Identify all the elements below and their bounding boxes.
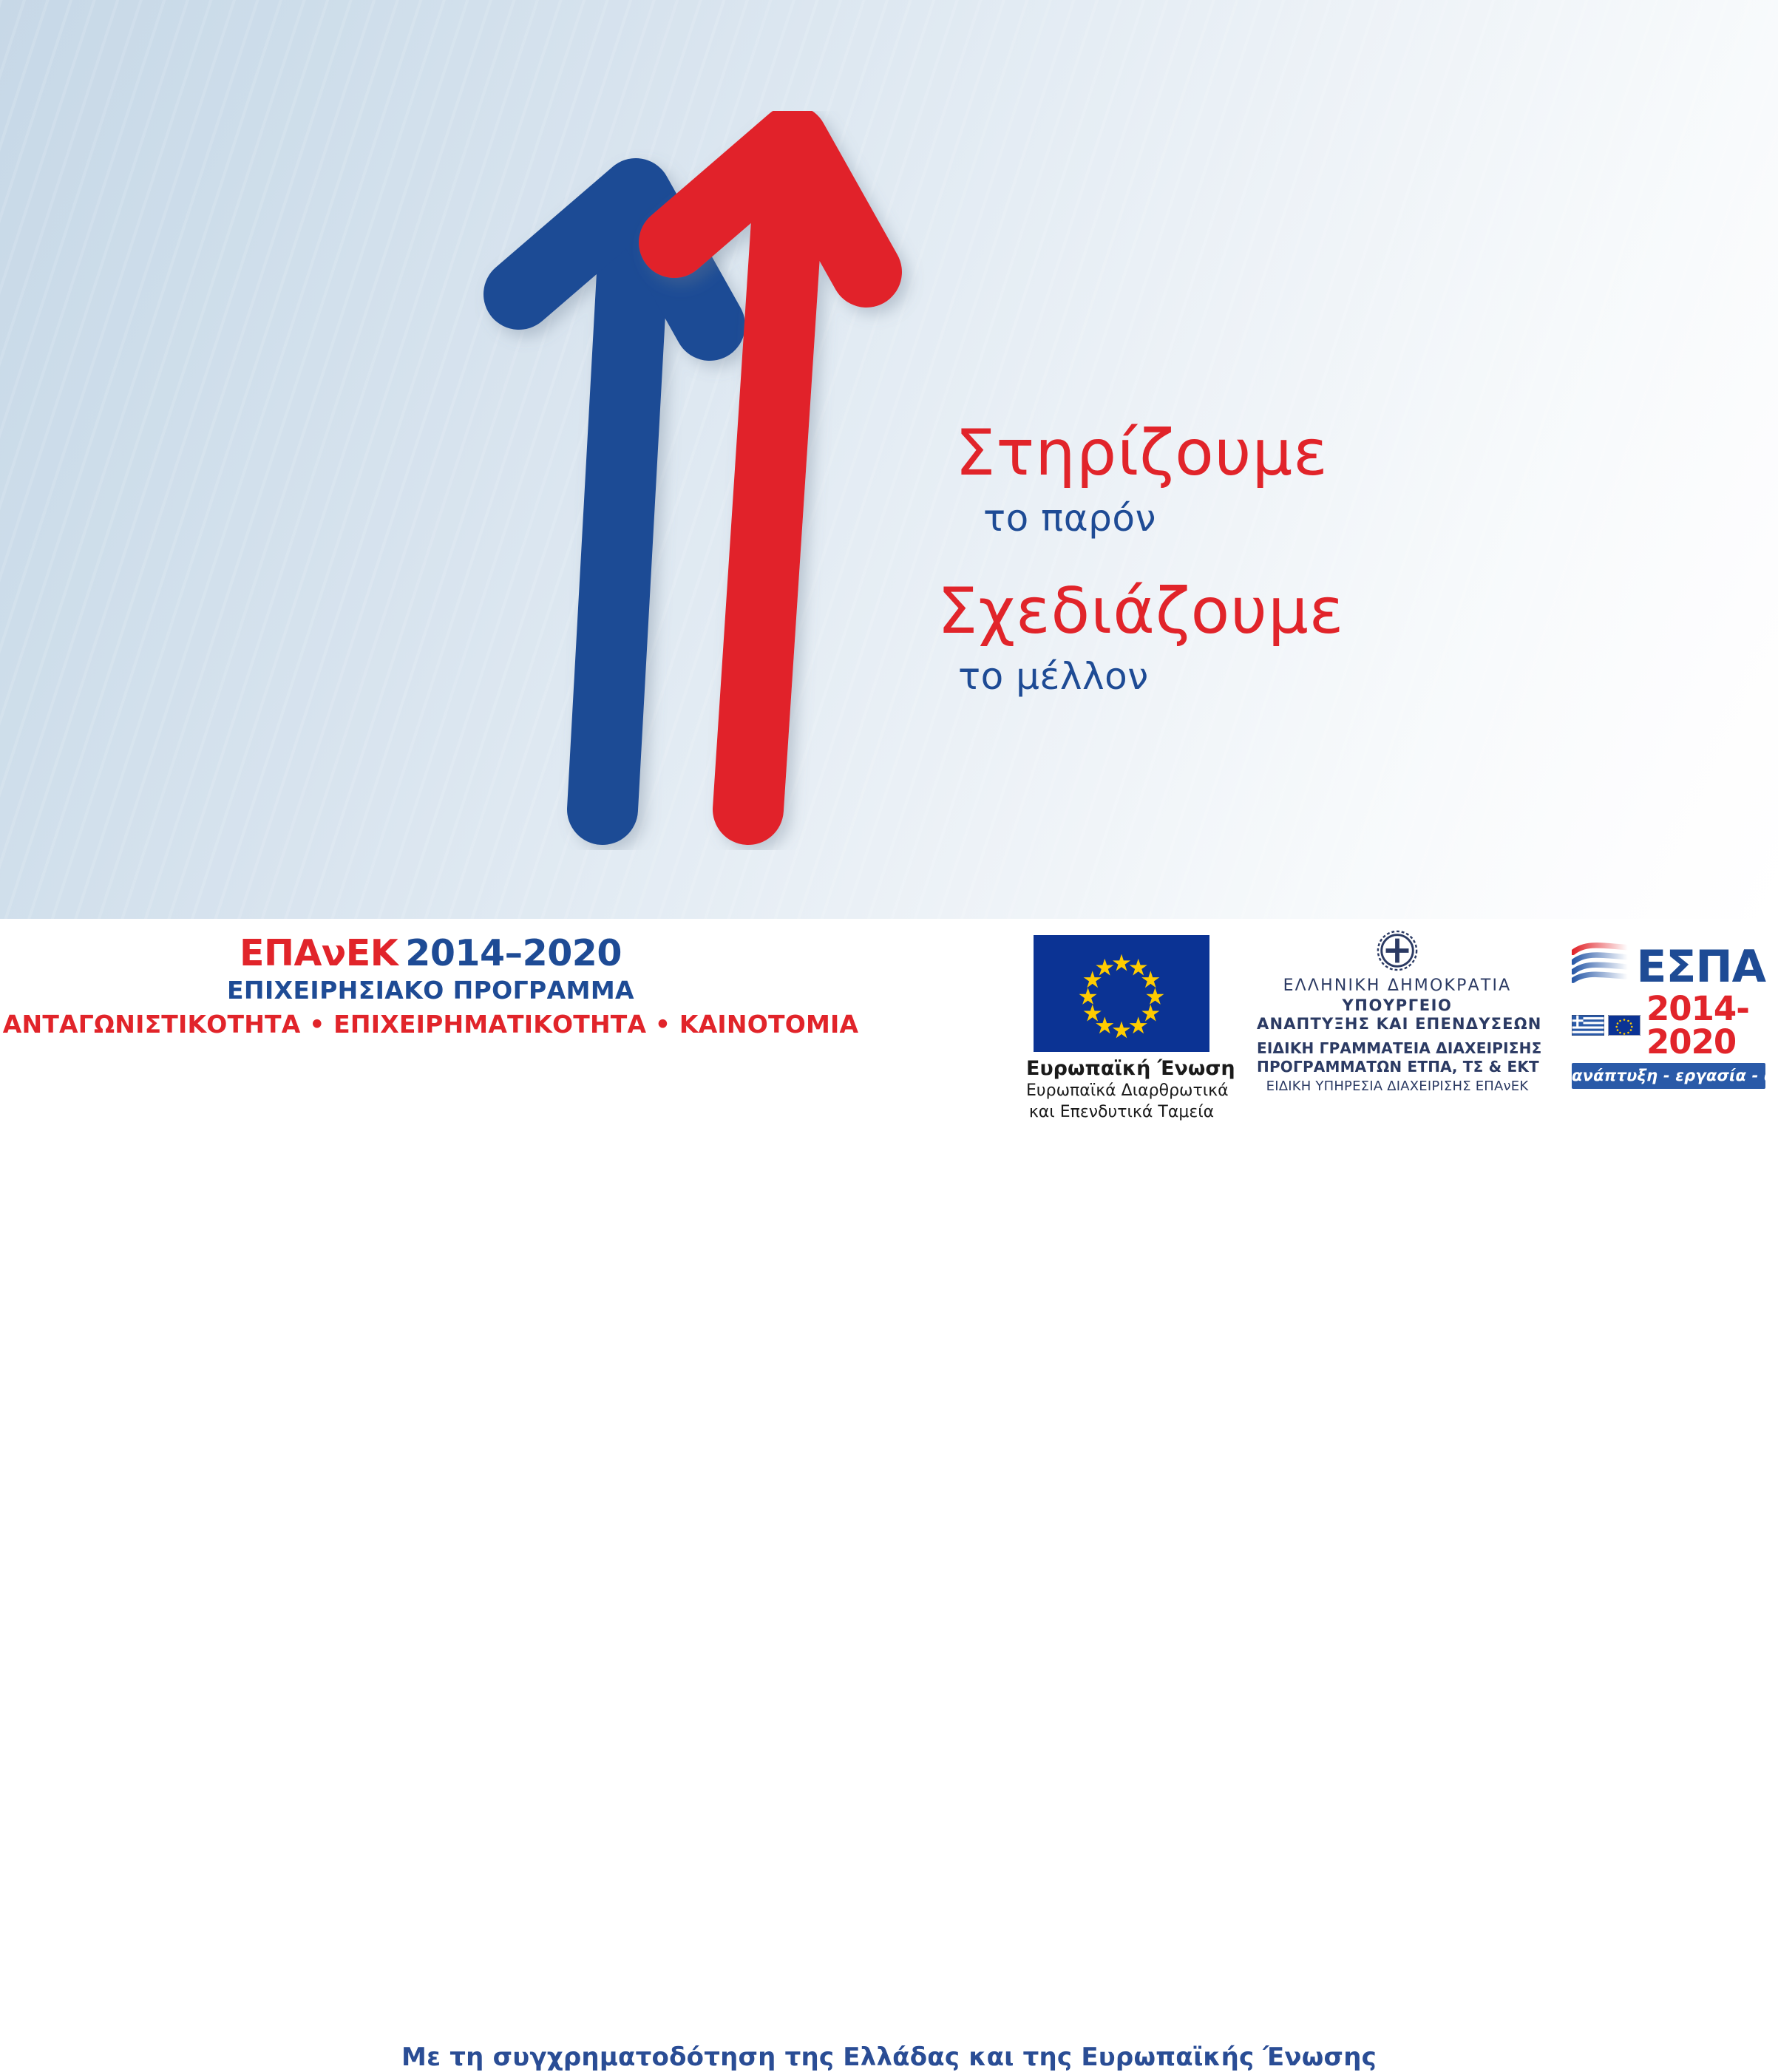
cofinancing-tagline: Με τη συγχρηματοδότηση της Ελλάδας και τ…	[0, 2042, 1778, 2072]
eu-subtitle-line1: Ευρωπαϊκά Διαρθρωτικά	[1026, 1081, 1217, 1101]
gr-line4: ΕΙΔΙΚΗ ΓΡΑΜΜΑΤΕΙΑ ΔΙΑΧΕΙΡΙΣΗΣ	[1257, 1039, 1538, 1057]
poster-canvas: Στηρίζουμε το παρόν Σχεδιάζουμε το μέλλο…	[0, 0, 1778, 1172]
gr-line5: ΠΡΟΓΡΑΜΜΑΤΩΝ ΕΤΠΑ, ΤΣ & ΕΚΤ	[1257, 1058, 1538, 1076]
eu-title: Ευρωπαϊκή Ένωση	[1026, 1057, 1217, 1080]
slogan-line-schediazoume: Σχεδιάζουμε	[937, 580, 1514, 643]
greek-flag-icon	[1572, 1015, 1604, 1036]
epanek-acronym: ΕΠΑνΕΚ	[240, 935, 398, 971]
espa-motto: ανάπτυξη - εργασία - αλληλεγγύη	[1572, 1067, 1778, 1084]
hashtag-arrows-logo	[414, 111, 1020, 850]
eu-subtitle-line2: και Επενδυτικά Ταμεία	[1026, 1103, 1217, 1123]
eu-flag-mini-icon	[1608, 1015, 1640, 1036]
greek-republic-block: ΕΛΛΗΝΙΚΗ ΔΗΜΟΚΡΑΤΙΑ ΥΠΟΥΡΓΕΙΟ ΑΝΑΠΤΥΞΗΣ …	[1257, 929, 1538, 1094]
epanek-pillars: ΑΝΤΑΓΩΝΙΣΤΙΚΟΤΗΤΑ • ΕΠΙΧΕΙΡΗΜΑΤΙΚΟΤΗΤΑ •…	[0, 1010, 861, 1039]
gr-line6: ΕΙΔΙΚΗ ΥΠΗΡΕΣΙΑ ΔΙΑΧΕΙΡΙΣΗΣ ΕΠΑνΕΚ	[1257, 1079, 1538, 1094]
slogan-line-stirizoume: Στηρίζουμε	[955, 421, 1514, 485]
gr-line2: ΥΠΟΥΡΓΕΙΟ	[1257, 996, 1538, 1014]
footer-band: ΕΠΑνΕΚ2014–2020 ΕΠΙΧΕΙΡΗΣΙΑΚΟ ΠΡΟΓΡΑΜΜΑ …	[0, 919, 1778, 1172]
epanek-subtitle: ΕΠΙΧΕΙΡΗΣΙΑΚΟ ΠΡΟΓΡΑΜΜΑ	[0, 976, 861, 1005]
epanek-years: 2014–2020	[405, 935, 622, 971]
espa-years: 2014-2020	[1646, 992, 1765, 1059]
red-arrow	[674, 140, 866, 809]
hero-panel: Στηρίζουμε το παρόν Σχεδιάζουμε το μέλλο…	[0, 0, 1778, 919]
gr-line1: ΕΛΛΗΝΙΚΗ ΔΗΜΟΚΡΑΤΙΑ	[1257, 976, 1538, 995]
espa-title-row: ΕΣΠΑ	[1572, 934, 1765, 988]
espa-word: ΕΣΠΑ	[1636, 946, 1765, 988]
eu-logo-block: Ευρωπαϊκή Ένωση Ευρωπαϊκά Διαρθρωτικά κα…	[1026, 935, 1217, 1123]
eu-flag-icon	[1034, 935, 1209, 1052]
gr-line3: ΑΝΑΠΤΥΞΗΣ ΚΑΙ ΕΠΕΝΔΥΣΕΩΝ	[1257, 1015, 1538, 1033]
epanek-title-row: ΕΠΑνΕΚ2014–2020	[0, 935, 861, 971]
footer-logo-row: ΕΠΑνΕΚ2014–2020 ΕΠΙΧΕΙΡΗΣΙΑΚΟ ΠΡΟΓΡΑΜΜΑ …	[0, 919, 1778, 1117]
espa-waves-icon	[1572, 940, 1629, 988]
espa-flags-years-row: 2014-2020	[1572, 992, 1765, 1059]
slogan-line-to-paron: το παρόν	[983, 500, 1514, 537]
slogan-line-to-mellon: το μέλλον	[958, 658, 1514, 695]
greek-republic-emblem-icon	[1376, 929, 1419, 972]
espa-motto-bar: ανάπτυξη - εργασία - αλληλεγγύη	[1572, 1063, 1765, 1089]
epanek-logo: ΕΠΑνΕΚ2014–2020 ΕΠΙΧΕΙΡΗΣΙΑΚΟ ΠΡΟΓΡΑΜΜΑ …	[0, 935, 861, 1039]
blue-arrow-and-bar	[519, 194, 710, 809]
espa-flag-pair	[1572, 1015, 1640, 1036]
espa-logo: ΕΣΠΑ	[1572, 934, 1765, 1089]
slogan-block: Στηρίζουμε το παρόν Σχεδιάζουμε το μέλλο…	[937, 421, 1514, 695]
